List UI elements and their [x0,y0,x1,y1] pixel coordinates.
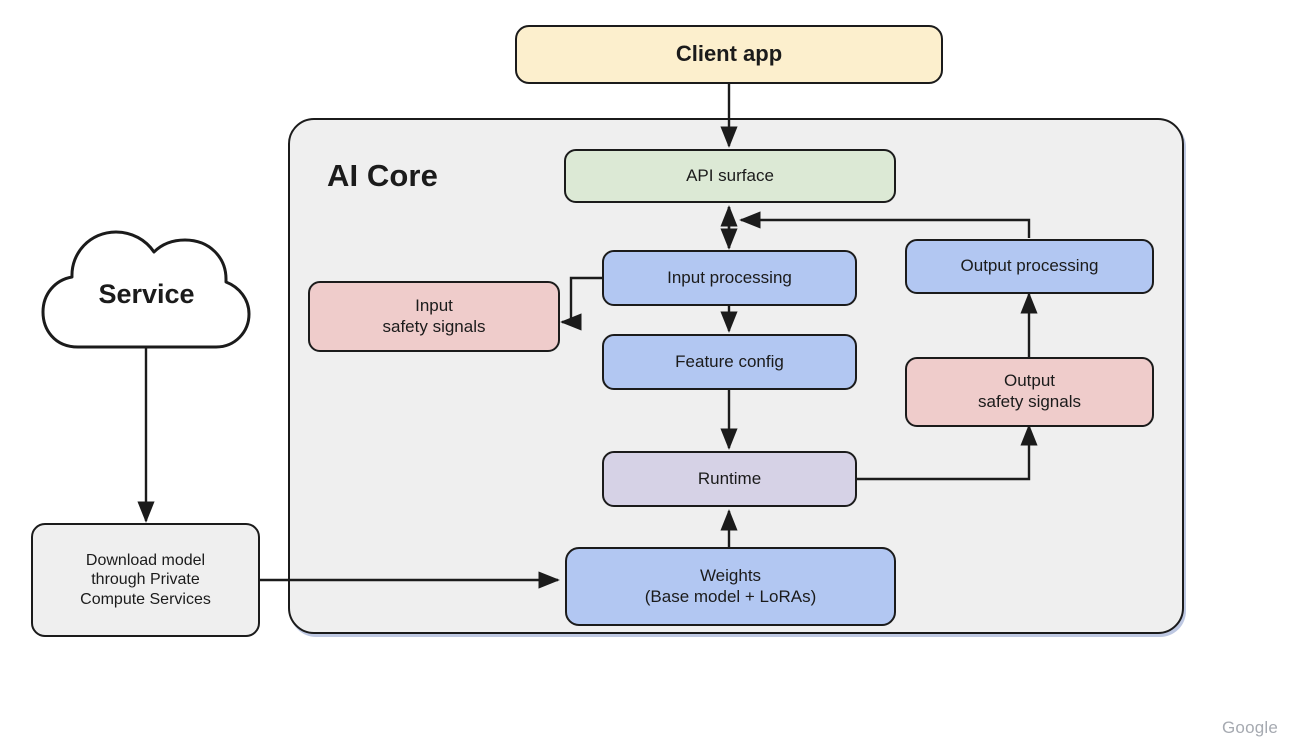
node-input-processing[interactable]: Input processing [602,250,857,306]
node-weights[interactable]: Weights (Base model + LoRAs) [565,547,896,626]
node-download-model-line3: Compute Services [80,590,211,610]
node-service-cloud-label: Service [40,222,253,352]
node-output-safety-line2: safety signals [978,392,1081,413]
node-output-safety-line1: Output [978,371,1081,392]
node-client-app[interactable]: Client app [515,25,943,84]
node-service-cloud[interactable]: Service [40,222,253,352]
node-api-surface-label: API surface [686,166,774,187]
node-output-processing-label: Output processing [961,256,1099,277]
diagram-canvas: AI Core Client app [0,0,1304,756]
node-runtime[interactable]: Runtime [602,451,857,507]
node-client-app-label: Client app [676,41,782,68]
node-output-processing[interactable]: Output processing [905,239,1154,294]
node-feature-config[interactable]: Feature config [602,334,857,390]
node-input-processing-label: Input processing [667,268,792,289]
node-api-surface[interactable]: API surface [564,149,896,203]
google-watermark: Google [1222,718,1278,738]
node-weights-line2: (Base model + LoRAs) [645,587,817,608]
node-weights-line1: Weights [645,566,817,587]
node-input-safety-signals[interactable]: Input safety signals [308,281,560,352]
node-input-safety-line1: Input [383,296,486,317]
node-runtime-label: Runtime [698,469,761,490]
node-download-model-line2: through Private [80,570,211,590]
ai-core-title: AI Core [327,158,438,194]
node-feature-config-label: Feature config [675,352,784,373]
node-download-model[interactable]: Download model through Private Compute S… [31,523,260,637]
node-output-safety-signals[interactable]: Output safety signals [905,357,1154,427]
node-input-safety-line2: safety signals [383,317,486,338]
node-download-model-line1: Download model [80,551,211,571]
